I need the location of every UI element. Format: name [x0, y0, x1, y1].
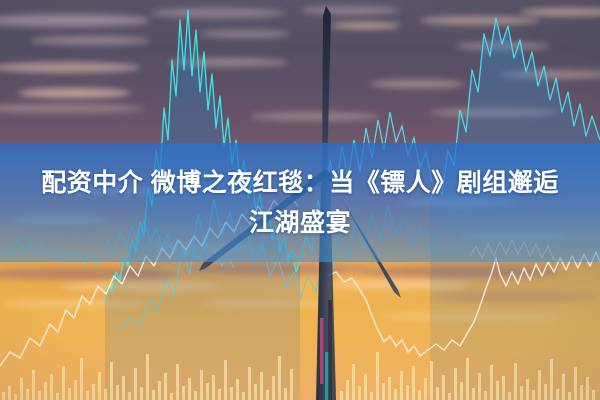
headline-band: 配资中介 微博之夜红毯：当《镖人》剧组邂逅江湖盛宴 — [0, 143, 600, 262]
tower-accent-magenta — [320, 318, 324, 384]
tower-accent-dark — [328, 300, 332, 400]
article-banner: 配资中介 微博之夜红毯：当《镖人》剧组邂逅江湖盛宴 ◇ — [0, 0, 600, 400]
page-title: 配资中介 微博之夜红毯：当《镖人》剧组邂逅江湖盛宴 — [20, 163, 580, 243]
watermark: ◇ — [584, 383, 592, 394]
